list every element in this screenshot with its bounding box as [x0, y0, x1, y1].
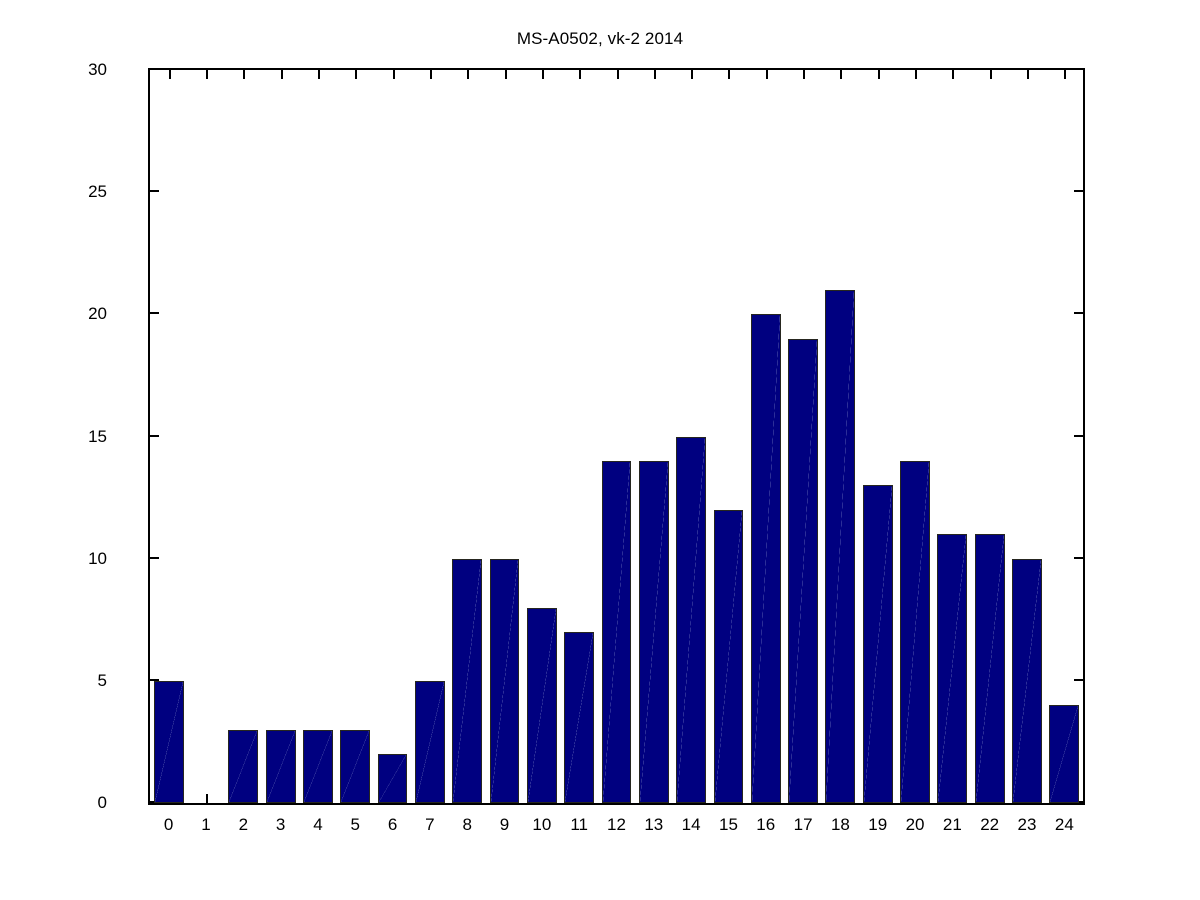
- y-axis-tick-label: 30: [47, 61, 107, 78]
- x-axis-tick: [878, 70, 880, 79]
- y-axis-tick: [150, 190, 159, 192]
- bar-sheen: [155, 682, 183, 802]
- y-axis-tick: [150, 68, 159, 70]
- bar: [378, 754, 408, 803]
- x-axis-tick: [355, 70, 357, 79]
- bar-sheen: [976, 535, 1004, 802]
- bar: [602, 461, 632, 803]
- bar: [788, 339, 818, 803]
- bar: [975, 534, 1005, 803]
- y-axis-tick: [1074, 190, 1083, 192]
- x-axis-tick: [691, 70, 693, 79]
- bar-sheen: [938, 535, 966, 802]
- x-axis-tick: [542, 70, 544, 79]
- bar: [490, 559, 520, 803]
- bar: [340, 730, 370, 803]
- bar-sheen: [565, 633, 593, 802]
- bar-sheen: [416, 682, 444, 802]
- y-axis-tick: [1074, 679, 1083, 681]
- bar-sheen: [901, 462, 929, 802]
- y-axis-tick-label: 10: [47, 550, 107, 567]
- x-axis-tick: [915, 70, 917, 79]
- y-axis-tick: [1074, 312, 1083, 314]
- plot-area: [150, 70, 1083, 803]
- bar: [154, 681, 184, 803]
- y-axis-tick: [150, 435, 159, 437]
- x-axis-tick: [803, 70, 805, 79]
- bar-sheen: [752, 315, 780, 802]
- y-axis-tick-label: 20: [47, 305, 107, 322]
- x-axis-tick: [281, 70, 283, 79]
- bar: [1012, 559, 1042, 803]
- bar-sheen: [640, 462, 668, 802]
- bar-sheen: [864, 486, 892, 802]
- bar-sheen: [379, 755, 407, 802]
- x-axis-tick: [654, 70, 656, 79]
- x-axis-tick: [952, 70, 954, 79]
- y-axis-tick: [1074, 68, 1083, 70]
- bar: [415, 681, 445, 803]
- bar-sheen: [267, 731, 295, 802]
- bar-sheen: [491, 560, 519, 802]
- bar-sheen: [789, 340, 817, 802]
- x-axis-tick: [467, 70, 469, 79]
- bar: [714, 510, 744, 803]
- bar-sheen: [304, 731, 332, 802]
- bar: [937, 534, 967, 803]
- x-axis-tick: [766, 70, 768, 79]
- x-axis-tick: [728, 70, 730, 79]
- bar: [825, 290, 855, 803]
- bar: [452, 559, 482, 803]
- bar: [1049, 705, 1079, 803]
- y-axis-tick: [1074, 435, 1083, 437]
- bar: [639, 461, 669, 803]
- bar-sheen: [603, 462, 631, 802]
- x-axis-tick: [617, 70, 619, 79]
- x-axis-tick: [579, 70, 581, 79]
- x-axis-tick: [840, 70, 842, 79]
- x-axis-tick: [206, 70, 208, 79]
- bar-sheen: [715, 511, 743, 802]
- y-axis-tick: [150, 557, 159, 559]
- bar-sheen: [826, 291, 854, 802]
- x-axis-tick: [1027, 70, 1029, 79]
- y-axis-tick-label: 15: [47, 428, 107, 445]
- bar-sheen: [1013, 560, 1041, 802]
- bar-sheen: [1050, 706, 1078, 802]
- x-axis-tick-label: 24: [1034, 816, 1094, 833]
- bar: [564, 632, 594, 803]
- plot-axes: [148, 68, 1085, 805]
- bar-sheen: [453, 560, 481, 802]
- x-axis-tick: [169, 70, 171, 79]
- x-axis-tick: [243, 70, 245, 79]
- bar: [303, 730, 333, 803]
- x-axis-tick: [393, 70, 395, 79]
- y-axis-tick-label: 0: [47, 794, 107, 811]
- x-axis-tick: [505, 70, 507, 79]
- bar: [527, 608, 557, 803]
- chart-title: MS-A0502, vk-2 2014: [0, 29, 1200, 49]
- bar: [676, 437, 706, 804]
- y-axis-tick: [150, 312, 159, 314]
- x-axis-tick: [1064, 70, 1066, 79]
- x-axis-tick: [318, 70, 320, 79]
- y-axis-tick-label: 25: [47, 183, 107, 200]
- bar: [751, 314, 781, 803]
- bar-sheen: [341, 731, 369, 802]
- y-axis-tick-label: 5: [47, 672, 107, 689]
- y-axis-tick: [1074, 557, 1083, 559]
- x-axis-tick: [990, 70, 992, 79]
- bar-sheen: [229, 731, 257, 802]
- bar: [266, 730, 296, 803]
- bar: [900, 461, 930, 803]
- bar-sheen: [677, 438, 705, 803]
- bar: [228, 730, 258, 803]
- x-axis-tick: [430, 70, 432, 79]
- bar: [863, 485, 893, 803]
- bar-sheen: [528, 609, 556, 802]
- x-axis-tick: [206, 794, 208, 803]
- figure-canvas: MS-A0502, vk-2 2014 05101520253001234567…: [0, 0, 1200, 900]
